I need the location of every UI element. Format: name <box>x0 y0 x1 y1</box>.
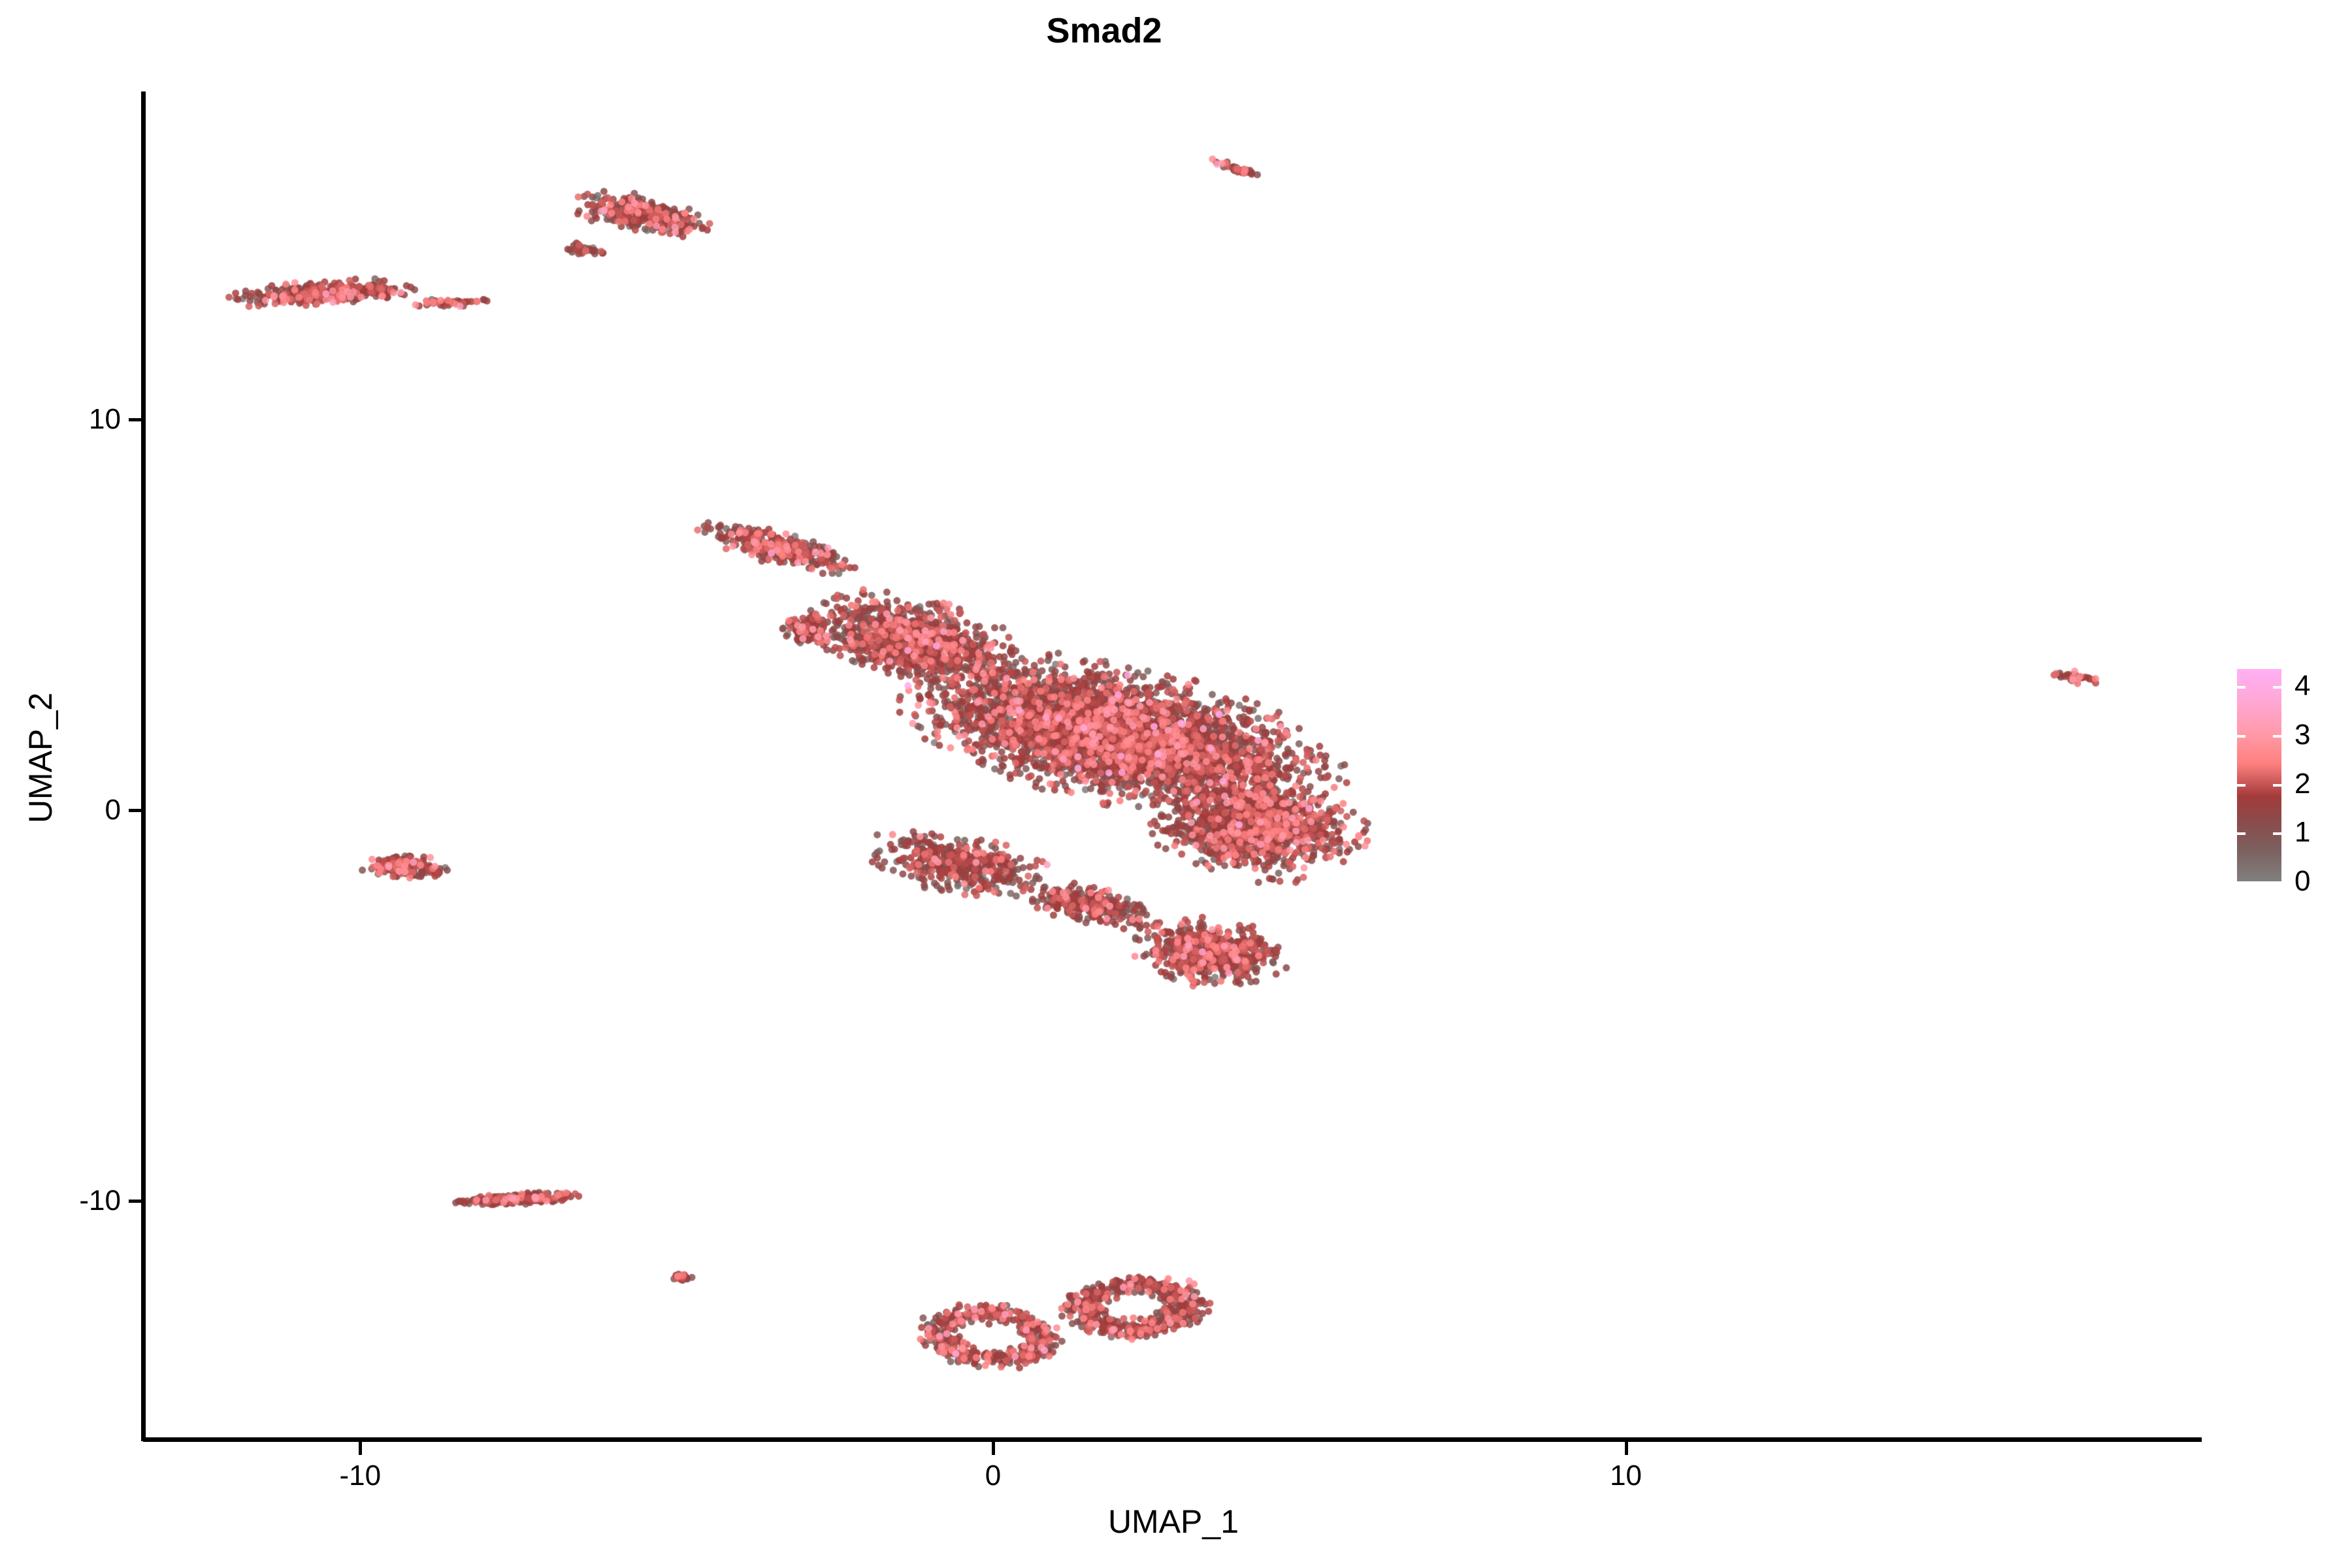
colorbar-tick-2-right <box>2273 784 2281 787</box>
x-tick-label-neg10: -10 <box>340 1460 382 1492</box>
colorbar-tick-2-left <box>2237 784 2246 787</box>
colorbar-tick-0-left <box>2237 881 2246 884</box>
x-axis-line <box>143 1437 2202 1442</box>
colorbar-tick-4-right <box>2273 686 2281 689</box>
y-tick-label-neg10: -10 <box>79 1184 121 1217</box>
colorbar-tick-1-right <box>2273 832 2281 835</box>
y-axis-title: UMAP_2 <box>22 497 59 1019</box>
x-axis-title: UMAP_1 <box>145 1503 2202 1541</box>
y-axis-line <box>141 91 146 1441</box>
colorbar-label-2: 2 <box>2295 768 2310 800</box>
color-legend: 4 3 2 1 0 <box>2237 669 2342 885</box>
colorbar-tick-3-right <box>2273 735 2281 738</box>
y-tick-mark-0 <box>129 809 142 812</box>
colorbar-label-1: 1 <box>2295 816 2310 849</box>
plot-panel <box>145 91 2202 1439</box>
colorbar-tick-0-right <box>2273 881 2281 884</box>
colorbar-gradient <box>2237 669 2281 881</box>
y-tick-label-0: 0 <box>105 794 121 826</box>
umap-feature-plot: Smad2 -10 0 10 10 0 -10 UMAP_1 UMAP_2 4 … <box>0 0 2352 1568</box>
y-tick-mark-neg10 <box>129 1200 142 1203</box>
x-tick-mark-0 <box>992 1442 995 1455</box>
colorbar-tick-1-left <box>2237 832 2246 835</box>
x-tick-mark-10 <box>1625 1442 1628 1455</box>
y-tick-label-10: 10 <box>89 403 121 436</box>
colorbar-tick-4-left <box>2237 686 2246 689</box>
x-tick-mark-neg10 <box>359 1442 362 1455</box>
y-tick-mark-10 <box>129 418 142 421</box>
x-tick-label-0: 0 <box>985 1460 1001 1492</box>
colorbar-label-3: 3 <box>2295 719 2310 751</box>
colorbar-tick-3-left <box>2237 735 2246 738</box>
x-tick-label-10: 10 <box>1610 1460 1642 1492</box>
colorbar-label-0: 0 <box>2295 865 2310 898</box>
colorbar-label-4: 4 <box>2295 670 2310 702</box>
page-title: Smad2 <box>0 10 2208 51</box>
scatter-plot-canvas <box>145 91 2202 1439</box>
